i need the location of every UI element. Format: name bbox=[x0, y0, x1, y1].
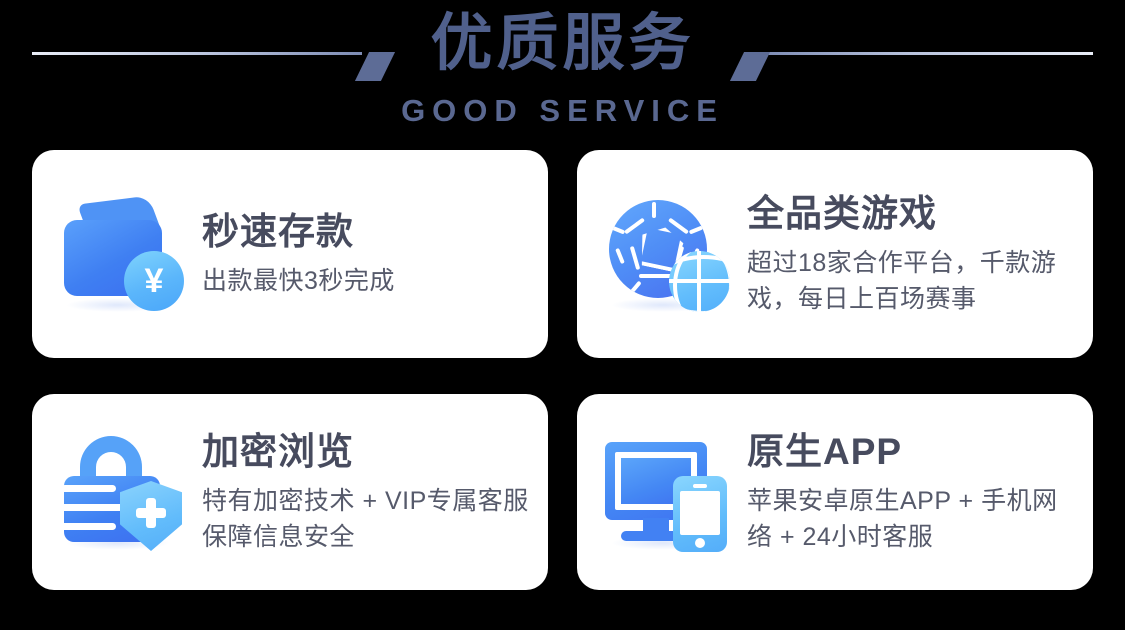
feature-card-games[interactable]: 全品类游戏 超过18家合作平台，千款游戏，每日上百场赛事 bbox=[577, 150, 1093, 358]
card-description: 超过18家合作平台，千款游戏，每日上百场赛事 bbox=[747, 245, 1079, 317]
phone-home-button bbox=[695, 538, 705, 548]
card-description: 特有加密技术 + VIP专属客服保障信息安全 bbox=[202, 483, 534, 555]
card-text-block: 全品类游戏 超过18家合作平台，千款游戏，每日上百场赛事 bbox=[747, 192, 1093, 317]
lock-slot bbox=[64, 523, 116, 530]
basketball-icon bbox=[669, 251, 730, 312]
phone-screen bbox=[680, 491, 720, 535]
lock-slot bbox=[64, 504, 128, 511]
soccer-seam bbox=[611, 226, 625, 235]
wallet-coin-icon: ¥ bbox=[58, 194, 190, 314]
yen-coin-icon: ¥ bbox=[124, 251, 184, 311]
card-title: 原生APP bbox=[747, 430, 1079, 474]
card-title: 全品类游戏 bbox=[747, 192, 1079, 236]
phone-icon bbox=[673, 476, 727, 552]
soccer-seam bbox=[652, 202, 656, 218]
soccer-basketball-icon bbox=[603, 194, 735, 314]
soccer-seam bbox=[668, 218, 689, 235]
soccer-seam bbox=[628, 281, 641, 296]
card-text-block: 加密浏览 特有加密技术 + VIP专属客服保障信息安全 bbox=[202, 430, 548, 555]
yen-symbol: ¥ bbox=[145, 264, 164, 298]
card-description: 苹果安卓原生APP + 手机网络 + 24小时客服 bbox=[747, 483, 1079, 555]
promo-banner: 优质服务 GOOD SERVICE ¥ 秒速存款 出款最快3秒完成 bbox=[0, 0, 1125, 630]
card-text-block: 秒速存款 出款最快3秒完成 bbox=[202, 210, 409, 299]
soccer-seam bbox=[615, 248, 625, 264]
soccer-seam bbox=[689, 226, 703, 235]
card-text-block: 原生APP 苹果安卓原生APP + 手机网络 + 24小时客服 bbox=[747, 430, 1093, 555]
feature-card-encryption[interactable]: 加密浏览 特有加密技术 + VIP专属客服保障信息安全 bbox=[32, 394, 548, 590]
card-description: 出款最快3秒完成 bbox=[202, 263, 395, 299]
cross-icon bbox=[136, 498, 166, 528]
feature-card-deposit[interactable]: ¥ 秒速存款 出款最快3秒完成 bbox=[32, 150, 548, 358]
soccer-seam bbox=[630, 246, 640, 270]
lock-slot bbox=[64, 485, 116, 492]
basketball-curve bbox=[669, 255, 730, 312]
monitor-phone-icon bbox=[603, 432, 735, 552]
page-title: 优质服务 bbox=[0, 8, 1125, 80]
card-title: 加密浏览 bbox=[202, 430, 534, 474]
feature-card-native-app[interactable]: 原生APP 苹果安卓原生APP + 手机网络 + 24小时客服 bbox=[577, 394, 1093, 590]
page-subtitle: GOOD SERVICE bbox=[0, 92, 1125, 130]
phone-speaker bbox=[693, 484, 707, 488]
lock-shield-icon bbox=[58, 432, 190, 552]
banner-header: 优质服务 GOOD SERVICE bbox=[0, 0, 1125, 145]
feature-card-grid: ¥ 秒速存款 出款最快3秒完成 bbox=[32, 150, 1093, 590]
soccer-seam bbox=[624, 218, 645, 235]
card-title: 秒速存款 bbox=[202, 210, 395, 254]
